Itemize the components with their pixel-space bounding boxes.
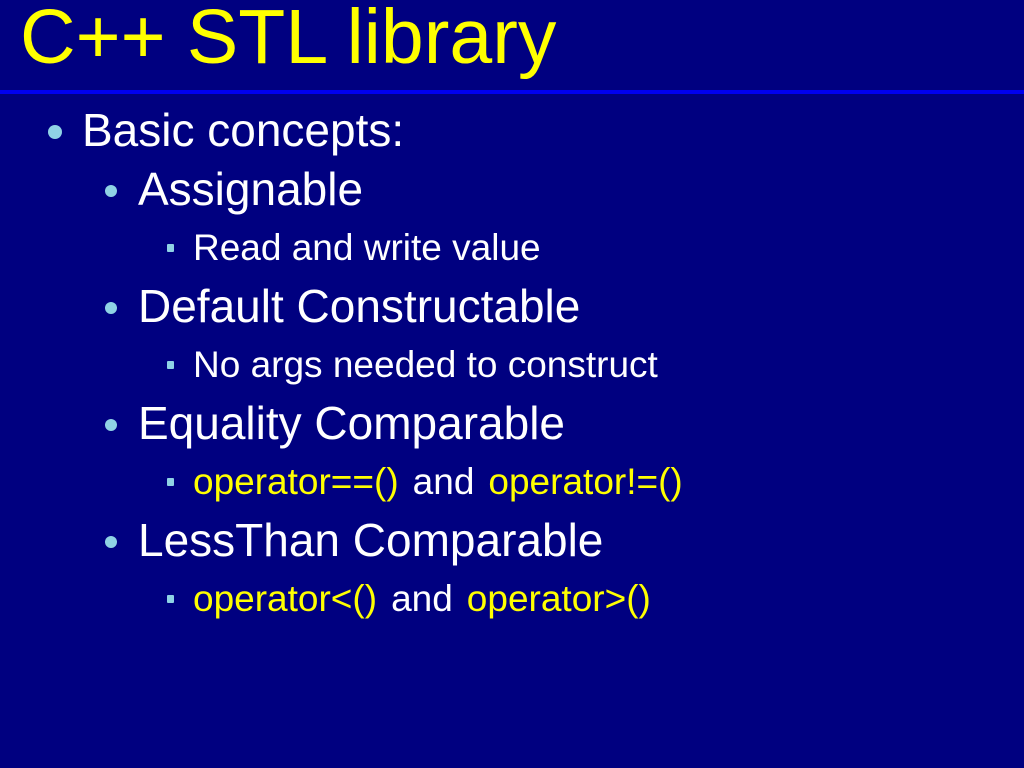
disc-bullet-icon [105,302,117,314]
page-title: C++ STL library [20,0,556,82]
list-item: operator==()andoperator!=() [0,453,1024,511]
list-item-label: Read and write value [193,227,541,268]
conjunction-word: and [413,461,475,502]
list-item: Equality Comparable [0,394,1024,453]
square-bullet-icon [167,361,174,369]
list-item-label: LessThan Comparable [138,514,603,566]
square-bullet-icon [167,595,174,603]
title-divider [0,90,1024,94]
code-token: operator!=() [488,461,682,502]
code-token: operator<() [193,578,377,619]
list-item: operator<()andoperator>() [0,570,1024,628]
list-item-label: Basic concepts: [82,104,404,156]
conjunction-word: and [391,578,453,619]
list-item-label: operator<()andoperator>() [193,578,651,619]
code-token: operator>() [467,578,651,619]
list-item-label: No args needed to construct [193,344,658,385]
code-token: operator==() [193,461,399,502]
list-item: Basic concepts: [0,100,1024,160]
square-bullet-icon [167,244,174,252]
disc-bullet-icon [48,125,62,139]
list-item: LessThan Comparable [0,511,1024,570]
square-bullet-icon [167,478,174,486]
list-item-label: Assignable [138,163,363,215]
slide-body-list: Basic concepts:AssignableRead and write … [0,100,1024,760]
disc-bullet-icon [105,536,117,548]
list-item: Assignable [0,160,1024,219]
list-item: Default Constructable [0,277,1024,336]
slide-title-area: C++ STL library [0,0,1024,90]
slide-canvas: C++ STL library Basic concepts:Assignabl… [0,0,1024,768]
list-item: No args needed to construct [0,336,1024,394]
list-item-label: Equality Comparable [138,397,565,449]
disc-bullet-icon [105,419,117,431]
list-item-label: Default Constructable [138,280,580,332]
disc-bullet-icon [105,185,117,197]
list-item: Read and write value [0,219,1024,277]
list-item-label: operator==()andoperator!=() [193,461,683,502]
